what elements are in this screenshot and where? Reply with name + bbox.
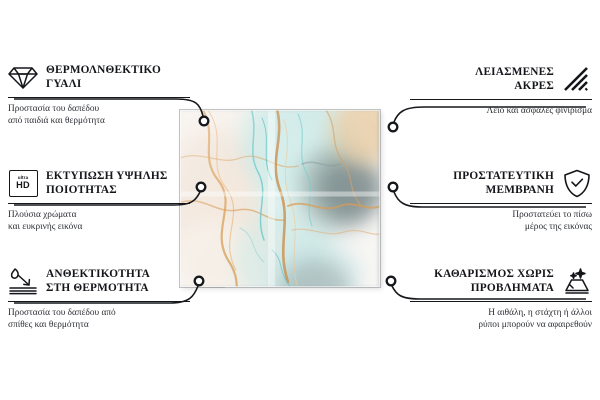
feature-title: ΕΚΤΥΠΩΣΗ ΥΨΗΛΗΣ ΠΟΙΟΤΗΤΑΣ (46, 169, 167, 197)
feature-description: Η αιθάλη, η στάχτη ή άλλοι ρύποι μπορούν… (410, 307, 592, 332)
shield-check-icon (562, 168, 592, 198)
feature-description: Προστατεύει το πίσω μέρος της εικόνας (410, 209, 592, 234)
feature-title: ΘΕΡΜΟΛΝΘΕΚΤΙΚΟ ΓΥΑΛΙ (46, 63, 161, 91)
ink-veins (180, 110, 380, 287)
feature-title: ΠΡΟΣΤΑΤΕΥΤΙΚΗ ΜΕΜΒΡΑΝΗ (453, 169, 554, 197)
feature-high-quality-print: ultra HD ΕΚΤΥΠΩΣΗ ΥΨΗΛΗΣ ΠΟΙΟΤΗΤΑΣ Πλούσ… (8, 168, 190, 234)
feature-divider (410, 99, 592, 100)
feature-description: Πλούσια χρώματα και ευκρινής εικόνα (8, 209, 190, 234)
feature-header: ΠΡΟΣΤΑΤΕΥΤΙΚΗ ΜΕΜΒΡΑΝΗ (410, 168, 592, 198)
feature-title: ΚΑΘΑΡΙΣΜΟΣ ΧΩΡΙΣ ΠΡΟΒΛΗΜΑΤΑ (434, 267, 554, 295)
feature-header: ΛΕΙΑΣΜΕΝΕΣ ΑΚΡΕΣ (410, 64, 592, 94)
polished-edges-icon (562, 64, 592, 94)
feature-easy-cleaning: ΚΑΘΑΡΙΣΜΟΣ ΧΩΡΙΣ ΠΡΟΒΛΗΜΑΤΑ Η αιθάλη, η … (410, 266, 592, 332)
ultra-hd-icon: ultra HD (8, 168, 38, 198)
feature-divider (8, 301, 190, 302)
product-image (180, 110, 400, 290)
easy-clean-sparkle-icon (562, 266, 592, 296)
feature-heat-durability: ΑΝΘΕΚΤΙΚΟΤΗΤΑ ΣΤΗ ΘΕΡΜΟΤΗΤΑ Προστασία το… (8, 266, 190, 332)
feature-header: ultra HD ΕΚΤΥΠΩΣΗ ΥΨΗΛΗΣ ΠΟΙΟΤΗΤΑΣ (8, 168, 190, 198)
infographic-canvas: ΘΕΡΜΟΛΝΘΕΚΤΙΚΟ ΓΥΑΛΙ Προστασία του δαπέδ… (0, 0, 600, 400)
feature-divider (8, 203, 190, 204)
glass-panel-artwork (180, 110, 380, 287)
feature-heat-resistant-glass: ΘΕΡΜΟΛΝΘΕΚΤΙΚΟ ΓΥΑΛΙ Προστασία του δαπέδ… (8, 62, 190, 128)
feature-divider (8, 97, 190, 98)
feature-header: ΘΕΡΜΟΛΝΘΕΚΤΙΚΟ ΓΥΑΛΙ (8, 62, 190, 92)
feature-protective-membrane: ΠΡΟΣΤΑΤΕΥΤΙΚΗ ΜΕΜΒΡΑΝΗ Προστατεύει το πί… (410, 168, 592, 234)
feature-description: Προστασία του δαπέδου από παιδιά και θερ… (8, 103, 190, 128)
feature-polished-edges: ΛΕΙΑΣΜΕΝΕΣ ΑΚΡΕΣ Λείο και ασφαλές φινίρι… (410, 64, 592, 117)
feature-title: ΛΕΙΑΣΜΕΝΕΣ ΑΚΡΕΣ (475, 65, 554, 93)
feature-divider (410, 301, 592, 302)
flame-resistance-icon (8, 266, 38, 296)
diamond-icon (8, 62, 38, 92)
feature-header: ΚΑΘΑΡΙΣΜΟΣ ΧΩΡΙΣ ΠΡΟΒΛΗΜΑΤΑ (410, 266, 592, 296)
feature-header: ΑΝΘΕΚΤΙΚΟΤΗΤΑ ΣΤΗ ΘΕΡΜΟΤΗΤΑ (8, 266, 190, 296)
feature-divider (410, 203, 592, 204)
feature-description: Προστασία του δαπέδου από σπίθες και θερ… (8, 307, 190, 332)
feature-description: Λείο και ασφαλές φινίρισμα (410, 105, 592, 117)
feature-title: ΑΝΘΕΚΤΙΚΟΤΗΤΑ ΣΤΗ ΘΕΡΜΟΤΗΤΑ (46, 267, 150, 295)
